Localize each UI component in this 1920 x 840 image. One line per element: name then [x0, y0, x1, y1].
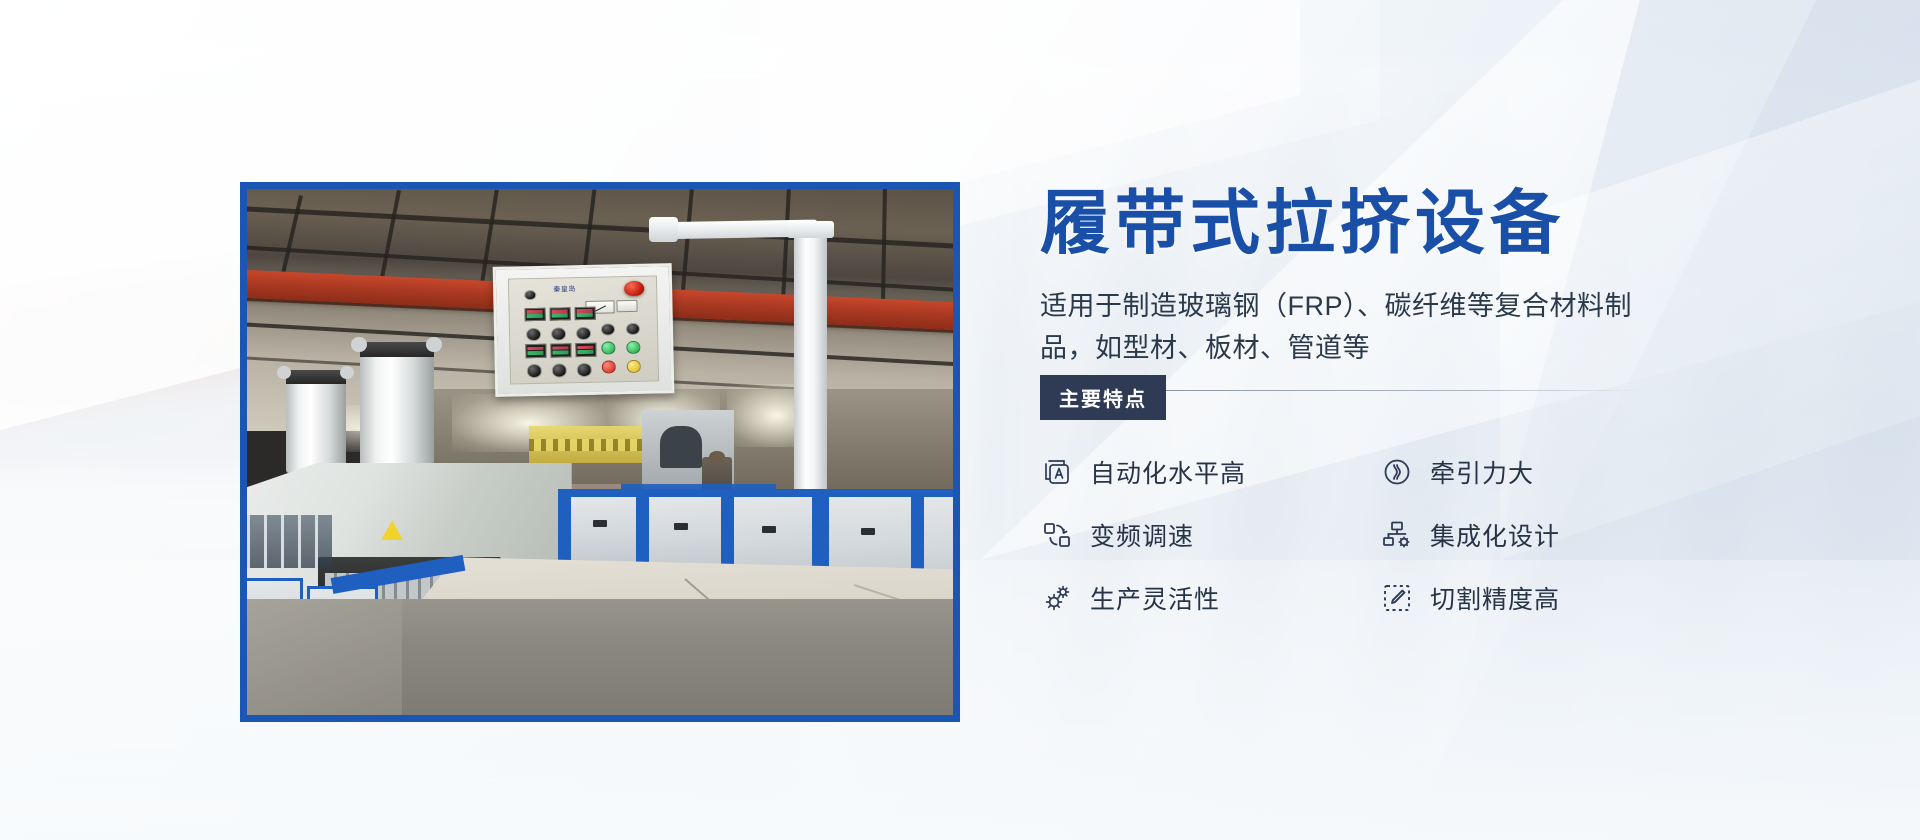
page-subtitle: 适用于制造玻璃钢（FRP）、碳纤维等复合材料制品，如型材、板材、管道等: [1040, 286, 1640, 370]
photo-hydraulic-cylinder: [286, 381, 346, 473]
photo-panel-knob: [577, 363, 592, 377]
photo-worker: [709, 451, 725, 463]
feature-label: 牵引力大: [1430, 454, 1534, 490]
feature-item[interactable]: 集成化设计: [1380, 517, 1720, 553]
feature-item[interactable]: 变频调速: [1040, 517, 1380, 553]
photo-distant-equipment: [660, 426, 702, 468]
photo-cabinet-handle: [593, 520, 607, 527]
product-banner: 秦皇岛: [0, 0, 1920, 840]
photo-press-side-frame: [247, 515, 332, 568]
dashed-pencil-icon: [1380, 581, 1414, 615]
feature-label: 集成化设计: [1430, 517, 1560, 553]
product-photo: 秦皇岛: [247, 189, 953, 715]
photo-panel-indicator-lamp: [627, 360, 641, 373]
photo-control-panel-face: 秦皇岛: [508, 275, 659, 384]
photo-panel-meter: [617, 300, 638, 313]
feature-label: 切割精度高: [1430, 580, 1560, 616]
letter-a-frame-icon: [1040, 455, 1074, 489]
photo-cabinet: [568, 494, 639, 568]
photo-panel-brand-label: 秦皇岛: [553, 284, 576, 294]
traction-waves-icon: [1380, 455, 1414, 489]
photo-emergency-stop-button: [624, 281, 645, 297]
photo-panel-knob: [551, 327, 566, 341]
photo-gantry-bracket: [787, 221, 834, 239]
gears-icon: [1040, 581, 1074, 615]
product-photo-frame: 秦皇岛: [240, 182, 960, 722]
feature-item[interactable]: 牵引力大: [1380, 454, 1720, 490]
photo-hydraulic-cylinder: [360, 355, 434, 465]
feature-item[interactable]: 切割精度高: [1380, 580, 1720, 616]
feature-item[interactable]: 生产灵活性: [1040, 580, 1380, 616]
photo-panel-knob: [526, 328, 541, 342]
photo-panel-knob: [601, 323, 615, 336]
photo-cylinder-cap: [286, 370, 346, 384]
photo-distant-equipment: [529, 439, 642, 452]
photo-cabinet: [646, 494, 724, 573]
photo-panel-knob: [527, 364, 542, 378]
photo-cylinder-cap: [360, 342, 434, 358]
photo-panel-indicator-lamp: [601, 342, 615, 355]
photo-panel-knob: [524, 290, 536, 301]
photo-gantry-bracket: [649, 217, 677, 241]
banner-content: 履带式拉挤设备 适用于制造玻璃钢（FRP）、碳纤维等复合材料制品，如型材、板材、…: [1040, 186, 1700, 616]
photo-panel-indicator-lamp: [602, 361, 616, 374]
feature-label: 变频调速: [1090, 517, 1194, 553]
photo-panel-display: [575, 343, 596, 357]
photo-panel-display: [524, 308, 545, 322]
page-title: 履带式拉挤设备: [1040, 186, 1700, 260]
feature-label: 自动化水平高: [1090, 454, 1246, 490]
photo-cabinet-handle: [762, 526, 776, 533]
feature-label: 生产灵活性: [1090, 580, 1220, 616]
photo-factory-floor: [247, 599, 402, 715]
photo-cabinet-handle: [861, 528, 875, 535]
photo-panel-display: [574, 307, 595, 321]
photo-control-panel: 秦皇岛: [493, 263, 675, 396]
feature-item[interactable]: 自动化水平高: [1040, 454, 1380, 490]
photo-cylinder-bolt: [351, 337, 367, 352]
photo-panel-knob: [576, 327, 591, 341]
photo-panel-indicator-lamp: [626, 341, 640, 354]
photo-panel-knob: [552, 364, 567, 378]
feature-list: 自动化水平高 牵引力大: [1040, 454, 1700, 616]
photo-cylinder-bolt: [277, 366, 291, 380]
photo-panel-display: [550, 344, 571, 358]
status-badge: 主要特点: [1040, 375, 1166, 420]
photo-cylinder-bolt: [426, 337, 442, 352]
speed-nodes-icon: [1040, 518, 1074, 552]
hierarchy-gear-icon: [1380, 518, 1414, 552]
photo-panel-display: [525, 344, 546, 358]
photo-panel-knob: [626, 323, 640, 336]
photo-panel-display: [549, 307, 570, 321]
photo-cabinet-handle: [674, 523, 688, 530]
